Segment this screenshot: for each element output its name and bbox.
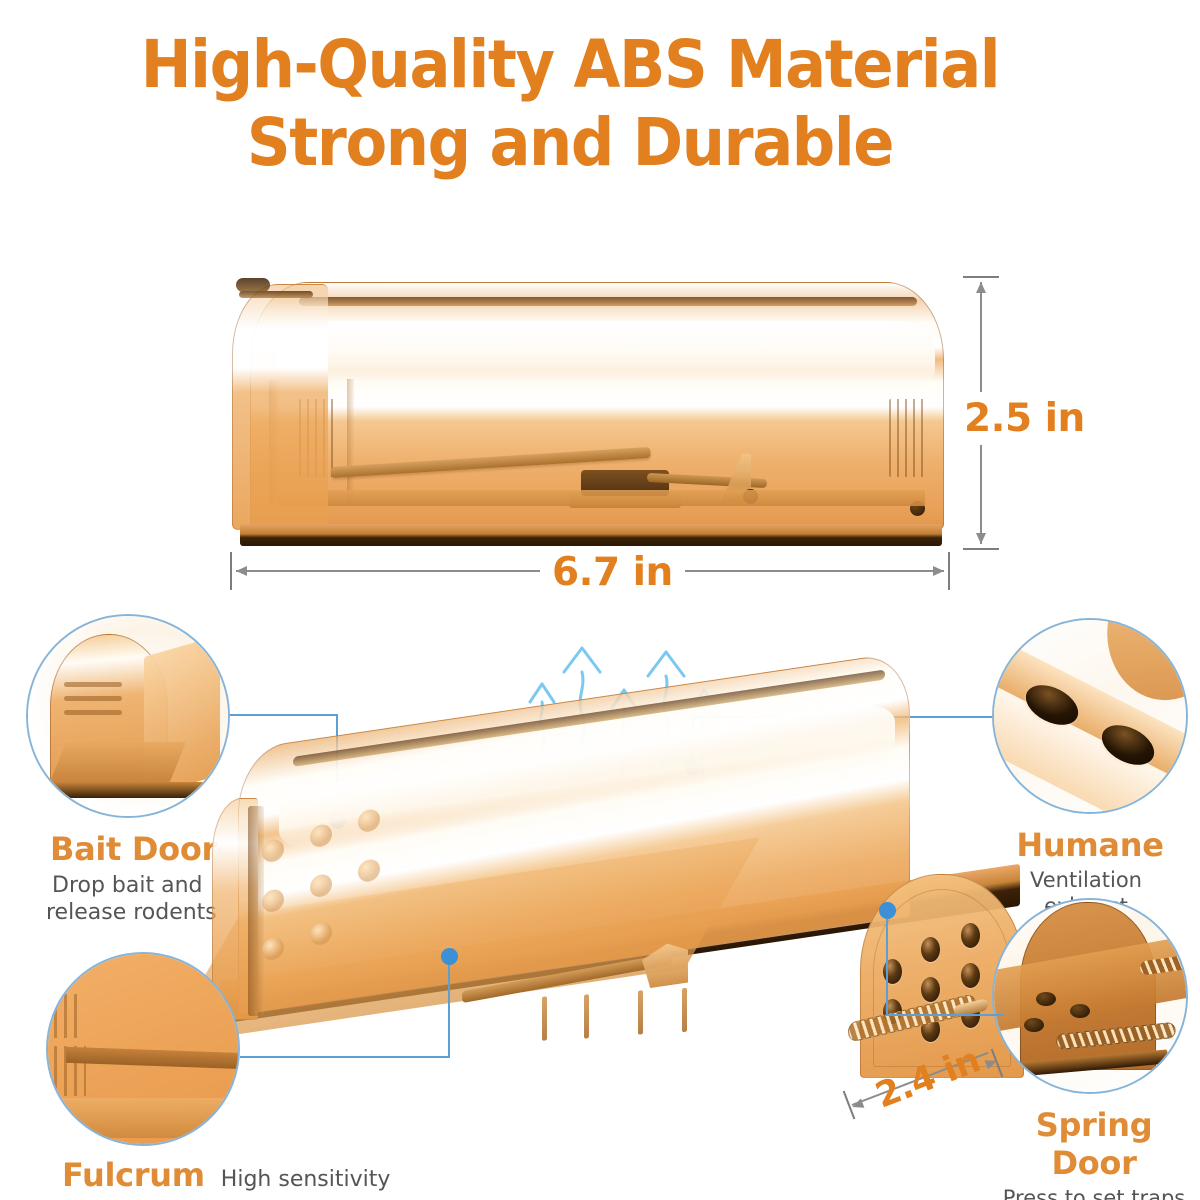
page-title: High-Quality ABS Material Strong and Dur… [0,26,1140,182]
fulcrum-inset-image [46,952,240,1146]
dimension-cap-right [948,552,950,590]
fulcrum-label-row: Fulcrum High sensitivity [62,1156,390,1194]
vent-hole [921,937,940,962]
callout-desc-bait-door-line2: release rodents [46,900,230,927]
shell-highlight [277,321,935,393]
trap-floor-plate [277,490,925,506]
bait-door-slot-2 [64,696,122,701]
dimension-arrow-right-icon [933,566,944,576]
title-line-1: High-Quality ABS Material [46,26,1095,104]
trap-end-cap [232,284,328,530]
dimension-arrow-left-icon [236,566,247,576]
side-vent-slots-right [889,399,929,477]
trap-hinge [236,278,270,292]
callout-title-fulcrum: Fulcrum [62,1156,205,1194]
product-side-view-image [232,276,944,552]
airflow-head-1 [530,684,554,702]
bait-door-floor [50,742,186,782]
bait-door-base [46,782,206,798]
fulcrum-base-surface [48,1098,240,1138]
title-line-2: Strong and Durable [46,104,1095,182]
callout-spring-door: Spring Door Press to set traps [992,898,1194,1200]
connector-spring-door-horizontal [886,1014,1004,1016]
bait-door-inset-image [26,614,230,818]
interior-post-b [347,379,354,504]
trap-side-shell [250,282,944,530]
support-leg [682,988,687,1033]
bait-door-slot-3 [64,710,122,715]
vent-hole [921,977,940,1002]
trap-base-rail [240,524,942,546]
height-dimension-label: 2.5 in [958,392,1091,445]
bait-door-slot-1 [64,682,122,687]
callout-humane: Humane Ventilation exhaust [992,618,1188,919]
spring-door-inset-image [992,898,1188,1094]
interior-knob [262,888,284,913]
callout-desc-fulcrum: High sensitivity [221,1167,391,1194]
connector-fulcrum-horizontal [240,1056,450,1058]
support-leg [542,996,547,1041]
interior-knob [310,823,332,848]
callout-fulcrum: Fulcrum High sensitivity [46,952,390,1194]
vent-hole [961,923,980,948]
callout-desc-bait-door-line1: Drop bait and [52,873,230,900]
dimension-cap-top [963,276,999,278]
spring-door-hole-2 [1070,1004,1090,1018]
connector-dot-spring-door [879,902,896,919]
end-cap-seam [239,291,313,298]
connector-dot-fulcrum [441,948,458,965]
dimension-cap-bottom [963,548,999,550]
dimension-cap-left [230,552,232,590]
spring-door-hole-1 [1036,992,1056,1006]
vent-hole [961,963,980,988]
callout-title-bait-door: Bait Door [50,830,230,868]
connector-spring-door-vertical [886,916,888,1016]
connector-fulcrum-vertical [448,962,450,1058]
fulcrum-vent-slots-top [46,994,80,1038]
callout-title-humane: Humane [992,826,1188,864]
spring-door-hole-3 [1024,1018,1044,1032]
callout-desc-spring-door: Press to set traps [994,1186,1194,1200]
callout-bait-door: Bait Door Drop bait and release rodents [26,614,230,927]
interior-knob [310,921,332,946]
infographic-page: High-Quality ABS Material Strong and Dur… [0,0,1200,1200]
callout-title-spring-door: Spring Door [996,1106,1192,1182]
airflow-head-2 [564,648,600,672]
shell-top-seam [299,297,917,306]
interior-knob [310,873,332,898]
connector-bait-door-horizontal [230,714,338,716]
dimension-arrow-up-icon [976,282,986,293]
support-leg [584,994,589,1039]
interior-knob [262,838,284,863]
support-leg [638,990,643,1035]
length-dimension-label: 6.7 in [540,548,685,597]
airflow-head-4 [648,652,684,676]
humane-inset-image [992,618,1188,814]
dimension-arrow-down-icon [976,533,986,544]
interior-knob [358,858,380,883]
